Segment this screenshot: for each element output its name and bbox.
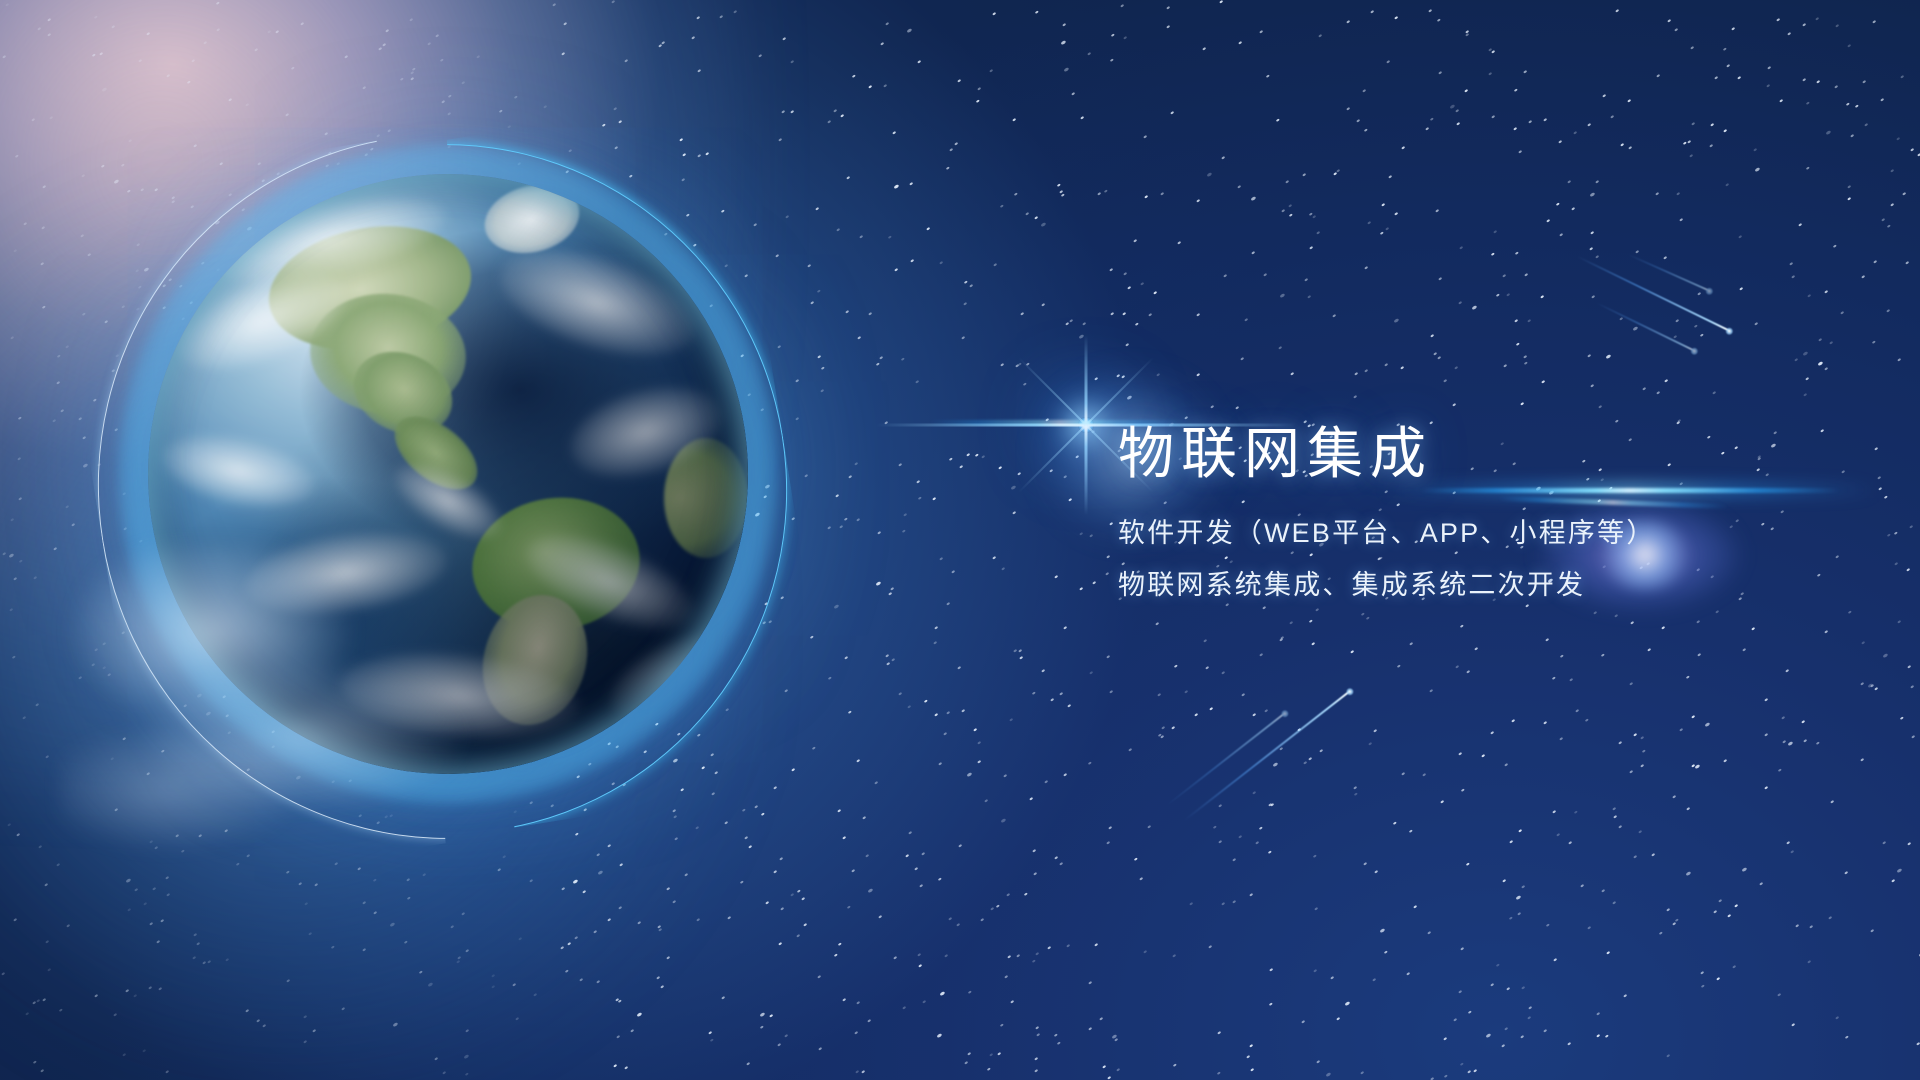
meteor-streak-2 [1596, 302, 1696, 352]
page-title: 物联网集成 [1118, 424, 1878, 484]
banner-copy: 物联网集成 软件开发（WEB平台、APP、小程序等） 物联网系统集成、集成系统二… [1118, 424, 1878, 609]
subtitle-line-2: 物联网系统集成、集成系统二次开发 [1118, 562, 1878, 609]
subtitle-line-1: 软件开发（WEB平台、APP、小程序等） [1118, 510, 1878, 557]
earth-globe [115, 150, 775, 830]
meteor-streak-3 [1184, 690, 1351, 821]
banner-stage: 物联网集成 软件开发（WEB平台、APP、小程序等） 物联网系统集成、集成系统二… [0, 0, 1920, 1080]
meteor-streak-4 [1166, 712, 1285, 806]
